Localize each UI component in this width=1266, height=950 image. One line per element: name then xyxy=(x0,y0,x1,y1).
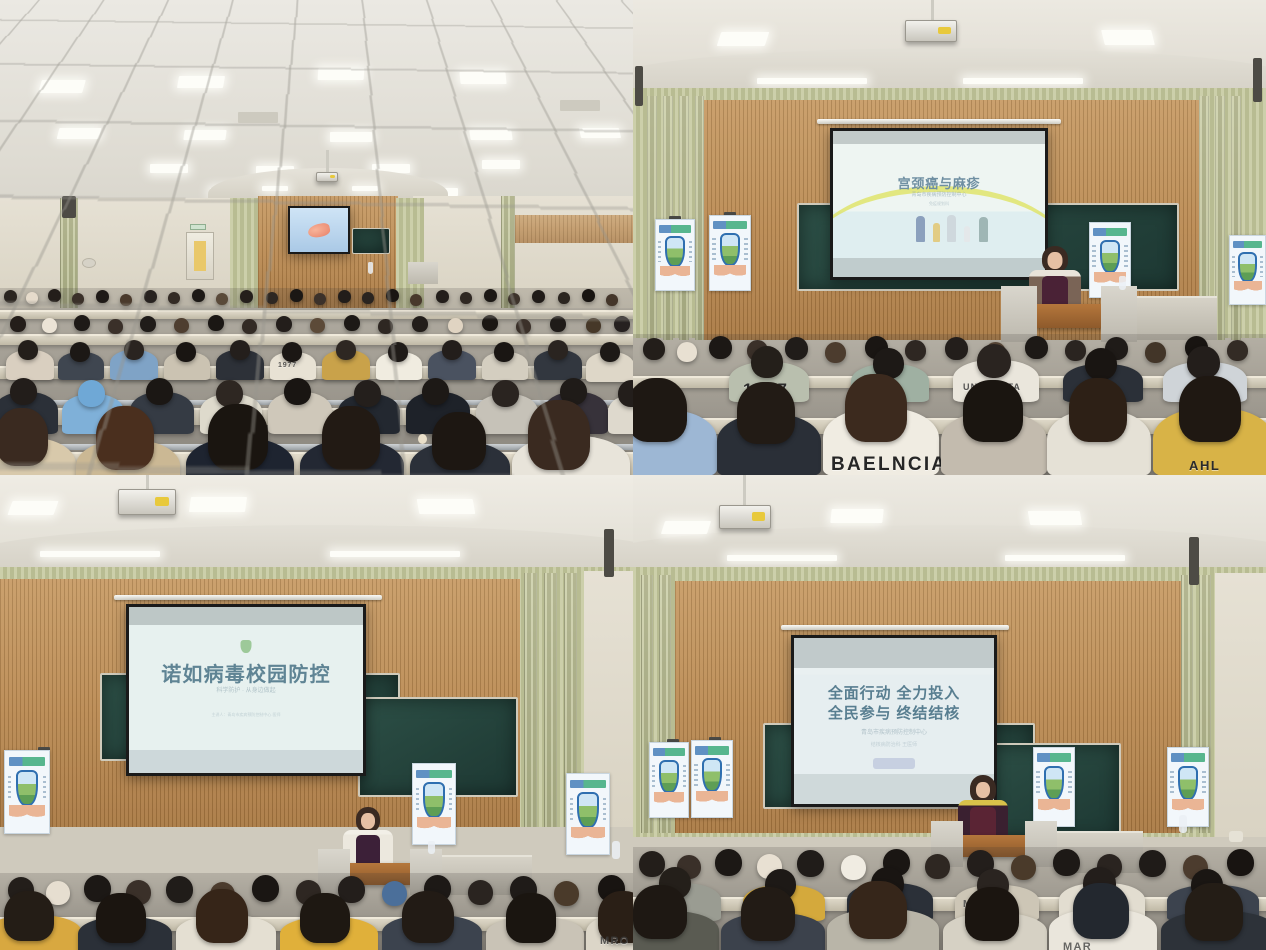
slide-badge xyxy=(873,758,915,769)
lectern xyxy=(1031,304,1107,328)
audience-head xyxy=(422,378,449,405)
ceiling-light xyxy=(150,164,188,173)
poster-shield-emblem xyxy=(16,770,39,806)
audience-head-front xyxy=(737,382,795,444)
audience-head xyxy=(1145,342,1166,363)
stage-soffit xyxy=(633,525,1266,571)
wall-pillar xyxy=(544,573,557,827)
poster-text-right xyxy=(689,241,692,262)
ceiling-light xyxy=(482,160,520,169)
poster-hands-icon xyxy=(660,266,690,283)
audience-head-front-cap xyxy=(1073,883,1129,939)
slide-top-right: 宫颈癌与麻疹 青岛市疾病预防控制中心 免疫规划科 xyxy=(833,131,1045,277)
audience-head xyxy=(492,380,519,407)
projection-screen: 诺如病毒校园防控 科学防护 · 从身边做起 主讲人：青岛市疾病预防控制中心 医师 xyxy=(126,604,366,776)
screen-rail xyxy=(817,119,1061,124)
slide-figure xyxy=(916,216,925,242)
desk-item-cup xyxy=(418,434,427,444)
audience-head xyxy=(96,290,109,303)
audience-head-front xyxy=(849,881,907,939)
poster-text-left xyxy=(1036,771,1039,794)
poster-hands-icon xyxy=(1172,799,1204,818)
poster-shield-emblem xyxy=(423,782,445,817)
garment-text-mar: MAR xyxy=(1063,941,1092,950)
audience-head xyxy=(442,340,462,360)
audience-head-front xyxy=(4,891,54,941)
audience-head xyxy=(618,380,633,407)
audience-head xyxy=(905,340,926,361)
poster-hands-icon xyxy=(654,792,684,810)
poster-on-board xyxy=(1033,747,1075,827)
ceiling-light xyxy=(57,128,102,139)
slide-subtitle: 青岛市疾病预防控制中心 xyxy=(794,729,994,738)
audience-head xyxy=(977,344,1011,378)
ceiling-light xyxy=(717,32,770,46)
audience-head xyxy=(276,316,292,332)
audience-head xyxy=(48,289,61,302)
slide-presenter: 免疫规划科 xyxy=(833,201,1045,207)
audience-head xyxy=(240,290,253,303)
ceiling-projector xyxy=(905,20,957,42)
projector-pole xyxy=(326,150,329,172)
door-panel xyxy=(194,241,205,270)
poster-headline xyxy=(653,748,685,756)
audience-head xyxy=(600,342,620,362)
desk-item-cup xyxy=(1229,831,1243,842)
audience-head xyxy=(751,346,783,378)
audience-head xyxy=(548,340,568,360)
audience: MONEY MAR xyxy=(633,847,1266,950)
audience-head-cap xyxy=(382,881,407,906)
slide-presenter: 主讲人：青岛市疾病预防控制中心 医师 xyxy=(129,712,363,718)
audience-head-front xyxy=(1185,883,1243,941)
audience-head xyxy=(508,293,520,305)
audience-head xyxy=(388,342,408,362)
audience-head-front xyxy=(965,887,1019,941)
audience-head xyxy=(70,342,90,362)
audience-head xyxy=(614,316,630,332)
slide-shield-icon xyxy=(241,640,252,653)
audience-head xyxy=(216,293,228,305)
projector-pole xyxy=(931,0,934,22)
poster-right xyxy=(566,773,610,855)
poster-headline xyxy=(416,770,451,779)
ceiling-light xyxy=(417,499,476,514)
audience-head xyxy=(362,292,374,304)
side-wall-right xyxy=(1215,573,1266,837)
ceiling-light xyxy=(189,497,247,512)
audience-head xyxy=(10,316,26,332)
poster-headline xyxy=(713,221,747,229)
audience-head-front xyxy=(96,406,154,470)
garment-text-ahl: AHL xyxy=(1189,458,1220,473)
poster-text-right xyxy=(1068,771,1071,794)
audience-head-front xyxy=(741,887,795,941)
audience-head-front xyxy=(96,893,146,943)
poster-hands-icon xyxy=(417,817,451,836)
projector-lens xyxy=(938,27,951,35)
ceiling-light xyxy=(40,551,160,557)
audience-head-front xyxy=(0,408,48,466)
ceiling-light xyxy=(7,501,58,515)
poster-headline xyxy=(1093,228,1127,236)
slide-figure xyxy=(979,217,988,242)
poster-headline xyxy=(9,757,46,766)
audience-head xyxy=(140,316,156,332)
poster-right xyxy=(1229,235,1266,305)
slide-title-line1: 全面行动 全力投入 xyxy=(794,684,994,704)
audience-head xyxy=(310,318,325,333)
audience-head xyxy=(74,315,90,331)
poster-text-right xyxy=(603,798,606,822)
audience-head xyxy=(176,342,196,362)
ceiling-light xyxy=(963,78,1083,84)
poster-headline xyxy=(1037,753,1071,762)
slide-figure xyxy=(947,215,956,242)
audience: 1977 xyxy=(0,288,633,475)
audience-head xyxy=(168,292,180,304)
desk-row xyxy=(0,334,633,345)
slide-figure xyxy=(933,223,940,242)
audience-head-front xyxy=(1179,376,1241,442)
audience-head xyxy=(1187,346,1220,379)
audience-head xyxy=(677,342,697,362)
audience-head xyxy=(174,318,189,333)
slide-app-bar xyxy=(794,638,994,668)
poster-hands-icon xyxy=(696,791,728,809)
audience-head xyxy=(494,342,514,362)
audience-head xyxy=(282,342,302,362)
audience-head xyxy=(582,289,595,302)
audience-head xyxy=(344,315,360,331)
poster-hands-icon xyxy=(714,265,746,283)
ceiling-projector xyxy=(118,489,176,515)
slide-subtitle: 青岛市疾病预防控制中心 xyxy=(833,192,1045,200)
poster-shield-emblem xyxy=(1044,766,1065,800)
poster-text-left xyxy=(712,238,715,260)
audience: MRO xyxy=(0,873,633,950)
poster-shield-emblem xyxy=(720,233,741,266)
audience-head xyxy=(144,290,157,303)
audience-head xyxy=(1139,850,1166,877)
podium-base xyxy=(408,262,438,284)
ceiling-light xyxy=(330,132,372,142)
garment-text-mro: MRO xyxy=(600,935,630,947)
projector-pole xyxy=(743,475,746,507)
poster-text-left xyxy=(652,765,655,787)
audience-head xyxy=(192,289,205,302)
audience-head xyxy=(266,292,278,304)
blackboard xyxy=(352,228,390,254)
poster-hands-icon xyxy=(1234,281,1262,297)
wall-speaker xyxy=(635,66,643,106)
ceiling-light xyxy=(757,78,867,84)
poster-headline xyxy=(1171,753,1205,762)
audience-head-front xyxy=(963,380,1023,442)
audience-head xyxy=(72,293,84,305)
slide-subtitle: 科学防护 · 从身边做起 xyxy=(129,687,363,696)
audience-head xyxy=(1053,849,1080,876)
slide-footer-strip xyxy=(833,258,1045,277)
slide-figure xyxy=(964,226,970,242)
audience-head xyxy=(146,378,173,405)
audience-head-front xyxy=(208,404,268,470)
poster-on-board xyxy=(412,763,456,845)
slide-top-left xyxy=(290,208,348,252)
screen-rail xyxy=(781,625,1009,630)
wall-vent xyxy=(82,258,96,268)
audience-head xyxy=(242,319,257,334)
ceiling-light xyxy=(318,68,365,80)
ceiling-light xyxy=(727,555,837,561)
audience-head xyxy=(208,315,224,331)
audience-head-front xyxy=(322,406,380,470)
water-bottle xyxy=(1119,276,1126,290)
soffit-light xyxy=(262,186,288,191)
audience-head xyxy=(290,289,303,302)
audience-head-front xyxy=(402,891,454,943)
ceiling-light xyxy=(1101,30,1155,45)
poster-hands-icon xyxy=(9,805,44,825)
audience-head xyxy=(558,292,570,304)
audience-head-front xyxy=(300,893,350,943)
water-bottle xyxy=(1179,815,1187,833)
audience-head xyxy=(785,337,808,360)
audience-head xyxy=(4,290,17,303)
poster-headline xyxy=(570,780,605,789)
audience-head-cap xyxy=(841,855,866,880)
audience-head xyxy=(216,380,243,407)
audience-head xyxy=(378,319,393,334)
ceiling-projector xyxy=(719,505,771,529)
audience-head xyxy=(1065,340,1086,361)
slide-title-line2: 全民参与 终结结核 xyxy=(794,704,994,724)
audience-head xyxy=(482,315,498,331)
speaker-face xyxy=(1048,252,1063,269)
poster-text-right xyxy=(744,238,747,260)
poster-left-1 xyxy=(649,742,689,818)
audience-head xyxy=(386,289,399,302)
audience-head xyxy=(550,316,566,332)
audience-head xyxy=(484,289,497,302)
water-bottle xyxy=(368,262,373,274)
audience-head xyxy=(945,337,968,360)
audience-head xyxy=(124,340,144,360)
poster-headline xyxy=(1233,241,1262,248)
audience-head xyxy=(412,316,428,332)
poster-shield-emblem xyxy=(659,760,679,793)
poster-text-right xyxy=(683,765,686,787)
water-bottle xyxy=(612,841,620,859)
poster-right xyxy=(1167,747,1209,827)
wall-speaker xyxy=(1189,537,1199,585)
ceiling-light xyxy=(177,76,225,88)
audience-head xyxy=(643,338,665,360)
audience: 1977 UNDERSTA BAELNCIAG xyxy=(633,334,1266,475)
audience-head-front xyxy=(633,378,687,442)
stage-soffit xyxy=(633,48,1266,92)
speaker-face xyxy=(976,782,990,798)
audience-head xyxy=(825,342,846,363)
poster-shield-emblem xyxy=(1100,240,1121,273)
ceiling-light xyxy=(330,551,460,557)
ceiling-light xyxy=(1005,555,1125,561)
audience-head xyxy=(1011,855,1036,880)
audience-head xyxy=(1227,340,1248,361)
audience-head xyxy=(314,293,326,305)
slide-bottom-left: 诺如病毒校园防控 科学防护 · 从身边做起 主讲人：青岛市疾病预防控制中心 医师 xyxy=(129,607,363,773)
poster-left xyxy=(4,750,50,834)
ceiling-light xyxy=(38,80,86,93)
audience-head xyxy=(532,290,545,303)
audience-head-front xyxy=(432,412,486,470)
audience-head xyxy=(338,290,351,303)
poster-text-left xyxy=(658,241,661,262)
audience-head xyxy=(26,292,38,304)
ceiling-tile-dark xyxy=(238,112,278,123)
exit-door xyxy=(186,232,214,280)
audience-head xyxy=(120,294,132,306)
screen-rail xyxy=(114,595,382,600)
ceiling-light xyxy=(661,521,711,534)
audience-head-front xyxy=(1069,378,1127,442)
poster-text-left xyxy=(1232,256,1235,276)
projection-screen xyxy=(288,206,350,254)
ceiling-projector xyxy=(316,172,338,182)
panel-bottom-right: 全面行动 全力投入 全民参与 终结结核 青岛市疾病预防控制中心 结核病防治科 王… xyxy=(633,475,1266,950)
audience-head-front xyxy=(528,400,590,470)
slide-app-bar xyxy=(129,607,363,625)
audience-head xyxy=(284,378,311,405)
slide-presenter: 结核病防治科 王医师 xyxy=(794,741,994,749)
projector-lens xyxy=(752,512,765,520)
poster-hands-icon xyxy=(1038,799,1070,818)
audience-head xyxy=(18,340,38,360)
exit-sign xyxy=(190,224,206,230)
audience-head xyxy=(252,875,279,902)
panel-top-right: 宫颈癌与麻疹 青岛市疾病预防控制中心 免疫规划科 xyxy=(633,0,1266,475)
ceiling-tile-dark xyxy=(560,100,600,111)
stage-soffit xyxy=(0,525,633,571)
audience-head xyxy=(797,850,824,877)
ceiling-light xyxy=(183,130,226,140)
audience-head-front xyxy=(506,893,556,943)
ceiling-light xyxy=(579,128,621,138)
photo-collage: 1977 xyxy=(0,0,1266,950)
audience-head xyxy=(230,340,250,360)
wall-pillar xyxy=(695,96,704,340)
poster-text-right xyxy=(43,776,47,801)
poster-text-left xyxy=(416,788,419,812)
water-bottle xyxy=(428,841,435,854)
audience-head xyxy=(42,318,57,333)
audience-head xyxy=(166,876,193,903)
ceiling-light xyxy=(469,130,512,140)
audience-head xyxy=(516,319,531,334)
poster-headline xyxy=(695,746,729,754)
audience-head xyxy=(410,294,422,306)
poster-shield-emblem xyxy=(702,758,723,791)
garment-text: 1977 xyxy=(278,362,297,369)
slide-app-bar xyxy=(833,131,1045,144)
audience-head xyxy=(354,380,381,407)
audience-head xyxy=(468,880,493,905)
audience-head xyxy=(715,849,742,876)
soffit-light xyxy=(352,186,378,191)
audience-head xyxy=(925,854,950,879)
poster-shield-emblem xyxy=(1178,766,1199,800)
poster-text-right xyxy=(1260,256,1263,276)
speaker-face xyxy=(361,813,375,829)
audience-head-front xyxy=(845,374,907,442)
poster-shield-emblem xyxy=(577,792,599,827)
panel-bottom-left: 诺如病毒校园防控 科学防护 · 从身边做起 主讲人：青岛市疾病预防控制中心 医师 xyxy=(0,475,633,950)
poster-headline xyxy=(659,225,691,233)
audience-head xyxy=(108,319,123,334)
poster-left-2 xyxy=(691,740,733,818)
audience-head-front xyxy=(633,885,687,939)
ceiling-light xyxy=(1028,511,1082,525)
audience-head xyxy=(1227,849,1254,876)
audience-head xyxy=(709,336,732,359)
panel-top-left: 1977 xyxy=(0,0,633,475)
audience-head xyxy=(460,292,472,304)
poster-text-left xyxy=(570,798,573,822)
poster-text-right xyxy=(449,788,452,812)
ceiling-light xyxy=(830,509,883,523)
poster-text-left xyxy=(1170,771,1173,794)
slide-visual-liver xyxy=(307,221,331,238)
poster-text-right xyxy=(726,764,729,787)
right-wood-panel xyxy=(503,215,633,243)
audience-head xyxy=(1085,348,1117,380)
audience-head xyxy=(10,378,37,405)
poster-text-right xyxy=(1202,771,1205,794)
poster-left-1 xyxy=(655,219,695,291)
audience-head xyxy=(448,318,463,333)
audience-head xyxy=(336,340,356,360)
wall-speaker xyxy=(604,529,614,577)
poster-shield-emblem xyxy=(1238,252,1256,282)
poster-text-right xyxy=(1124,245,1127,267)
slide-title: 诺如病毒校园防控 xyxy=(129,662,363,689)
audience-head xyxy=(586,318,601,333)
audience-head xyxy=(436,290,449,303)
poster-shield-emblem xyxy=(665,236,685,267)
audience-head-cap xyxy=(78,380,105,407)
ceiling-light xyxy=(459,72,506,84)
poster-hands-icon xyxy=(571,827,605,846)
poster-left-2 xyxy=(709,215,751,291)
audience-head xyxy=(1025,336,1048,359)
poster-text-left xyxy=(1092,245,1095,267)
audience-head-front xyxy=(196,889,248,943)
wall-pillar xyxy=(647,96,657,340)
poster-text-left xyxy=(8,776,12,801)
wall-speaker xyxy=(1253,58,1262,102)
audience-head xyxy=(554,881,579,906)
slide-title: 宫颈癌与麻疹 xyxy=(833,175,1045,193)
projector-lens xyxy=(155,497,170,506)
wall-pillar xyxy=(524,573,537,827)
projection-screen: 宫颈癌与麻疹 青岛市疾病预防控制中心 免疫规划科 xyxy=(830,128,1048,280)
poster-text-left xyxy=(694,764,697,787)
wall-speaker xyxy=(62,196,76,218)
audience-head xyxy=(606,294,618,306)
projector-lens xyxy=(330,175,335,178)
